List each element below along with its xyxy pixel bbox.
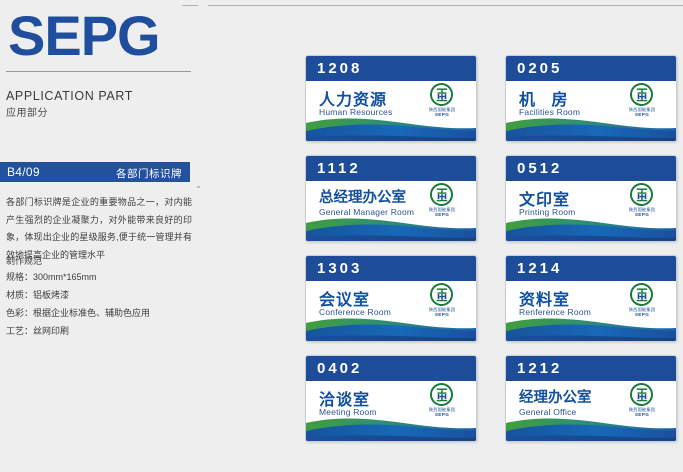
plate-header: 0512 [506,156,676,181]
logo-emblem-icon [434,387,449,402]
brand-underline [6,71,191,72]
spec-row-process: 工艺：丝网印刷 [6,322,192,340]
plate-wave-graphic [506,413,676,441]
logo-circle-icon [430,183,453,206]
plate-header: 1212 [506,356,676,381]
spec-title: 制作规范 [6,254,42,267]
plate-wave-graphic [306,213,476,241]
plate-body: 洽谈室 Meeting Room 陕西国能集团 SE [306,381,476,441]
code-bar-code: B4/09 [7,165,40,179]
plate-body: 总经理办公室 General Manager Room 陕西国能集团 [306,181,476,241]
section-title-en: APPLICATION PART [6,89,133,103]
code-bar: B4/09 各部门标识牌 [0,162,190,182]
plate-body: 文印室 Printing Room 陕西国能集团 S [506,181,676,241]
logo-emblem-icon [634,287,649,302]
plate-header: 1214 [506,256,676,281]
sign-plate-0512: 0512 文印室 Printing Room [505,155,677,242]
section-title-cn: 应用部分 [6,104,48,119]
plate-room-number: 1303 [317,260,362,277]
plate-room-number: 0402 [317,360,362,377]
sign-plate-0205: 0205 机 房 Facilities Room [505,55,677,142]
spec-row-color: 色彩：根据企业标准色、辅助色应用 [6,304,192,322]
logo-emblem-icon [634,387,649,402]
left-info-panel: SEPG APPLICATION PART 应用部分 B4/09 各部门标识牌 … [0,0,197,472]
plate-room-number: 0205 [517,60,562,77]
plate-body: 人力资源 Human Resources 陕西国能集团 [306,81,476,141]
plate-name-cn: 总经理办公室 [319,186,406,207]
plate-wave-graphic [506,113,676,141]
sign-plate-1303: 1303 会议室 Conference Room [305,255,477,342]
logo-circle-icon [630,383,653,406]
plate-body: 经理办公室 General Office 陕西国能集团 [506,381,676,441]
top-divider-rule [208,5,683,6]
logo-circle-icon [430,283,453,306]
logo-circle-icon [630,283,653,306]
plate-wave-graphic [506,313,676,341]
sign-plate-1112: 1112 总经理办公室 General Manager Room [305,155,477,242]
plate-header: 1208 [306,56,476,81]
plate-body: 会议室 Conference Room 陕西国能集团 [306,281,476,341]
code-bar-category: 各部门标识牌 [116,166,182,181]
logo-circle-icon [430,83,453,106]
logo-circle-icon [630,83,653,106]
plate-body: 资料室 Renference Room 陕西国能集团 [506,281,676,341]
plate-wave-graphic [506,213,676,241]
logo-emblem-icon [634,87,649,102]
plate-header: 0402 [306,356,476,381]
plate-header: 0205 [506,56,676,81]
logo-emblem-icon [634,187,649,202]
brand-block: SEPG [6,8,191,72]
sign-plate-1212: 1212 经理办公室 General Office [505,355,677,442]
plate-body: 机 房 Facilities Room 陕西国能集团 [506,81,676,141]
logo-emblem-icon [434,87,449,102]
spec-row-size: 规格：300mm*165mm [6,268,192,286]
plate-name-cn: 经理办公室 [519,386,592,407]
plate-room-number: 1212 [517,360,562,377]
logo-circle-icon [430,383,453,406]
plate-room-number: 0512 [517,160,562,177]
sign-plate-1208: 1208 人力资源 Human Resources [305,55,477,142]
plate-header: 1112 [306,156,476,181]
plate-wave-graphic [306,113,476,141]
brand-logo-text: SEPG [6,8,191,68]
sign-plate-grid: 1208 人力资源 Human Resources [305,55,680,460]
sign-plate-1214: 1214 资料室 Renference Room [505,255,677,342]
panel-divider [197,186,200,188]
logo-emblem-icon [434,287,449,302]
sign-plate-0402: 0402 洽谈室 Meeting Room [305,355,477,442]
spec-list: 规格：300mm*165mm 材质：铝板烤漆 色彩：根据企业标准色、辅助色应用 … [6,268,192,340]
plate-wave-graphic [306,313,476,341]
plate-room-number: 1214 [517,260,562,277]
plate-header: 1303 [306,256,476,281]
plate-room-number: 1112 [317,160,361,177]
plate-room-number: 1208 [317,60,362,77]
logo-emblem-icon [434,187,449,202]
logo-circle-icon [630,183,653,206]
spec-row-material: 材质：铝板烤漆 [6,286,192,304]
plate-wave-graphic [306,413,476,441]
